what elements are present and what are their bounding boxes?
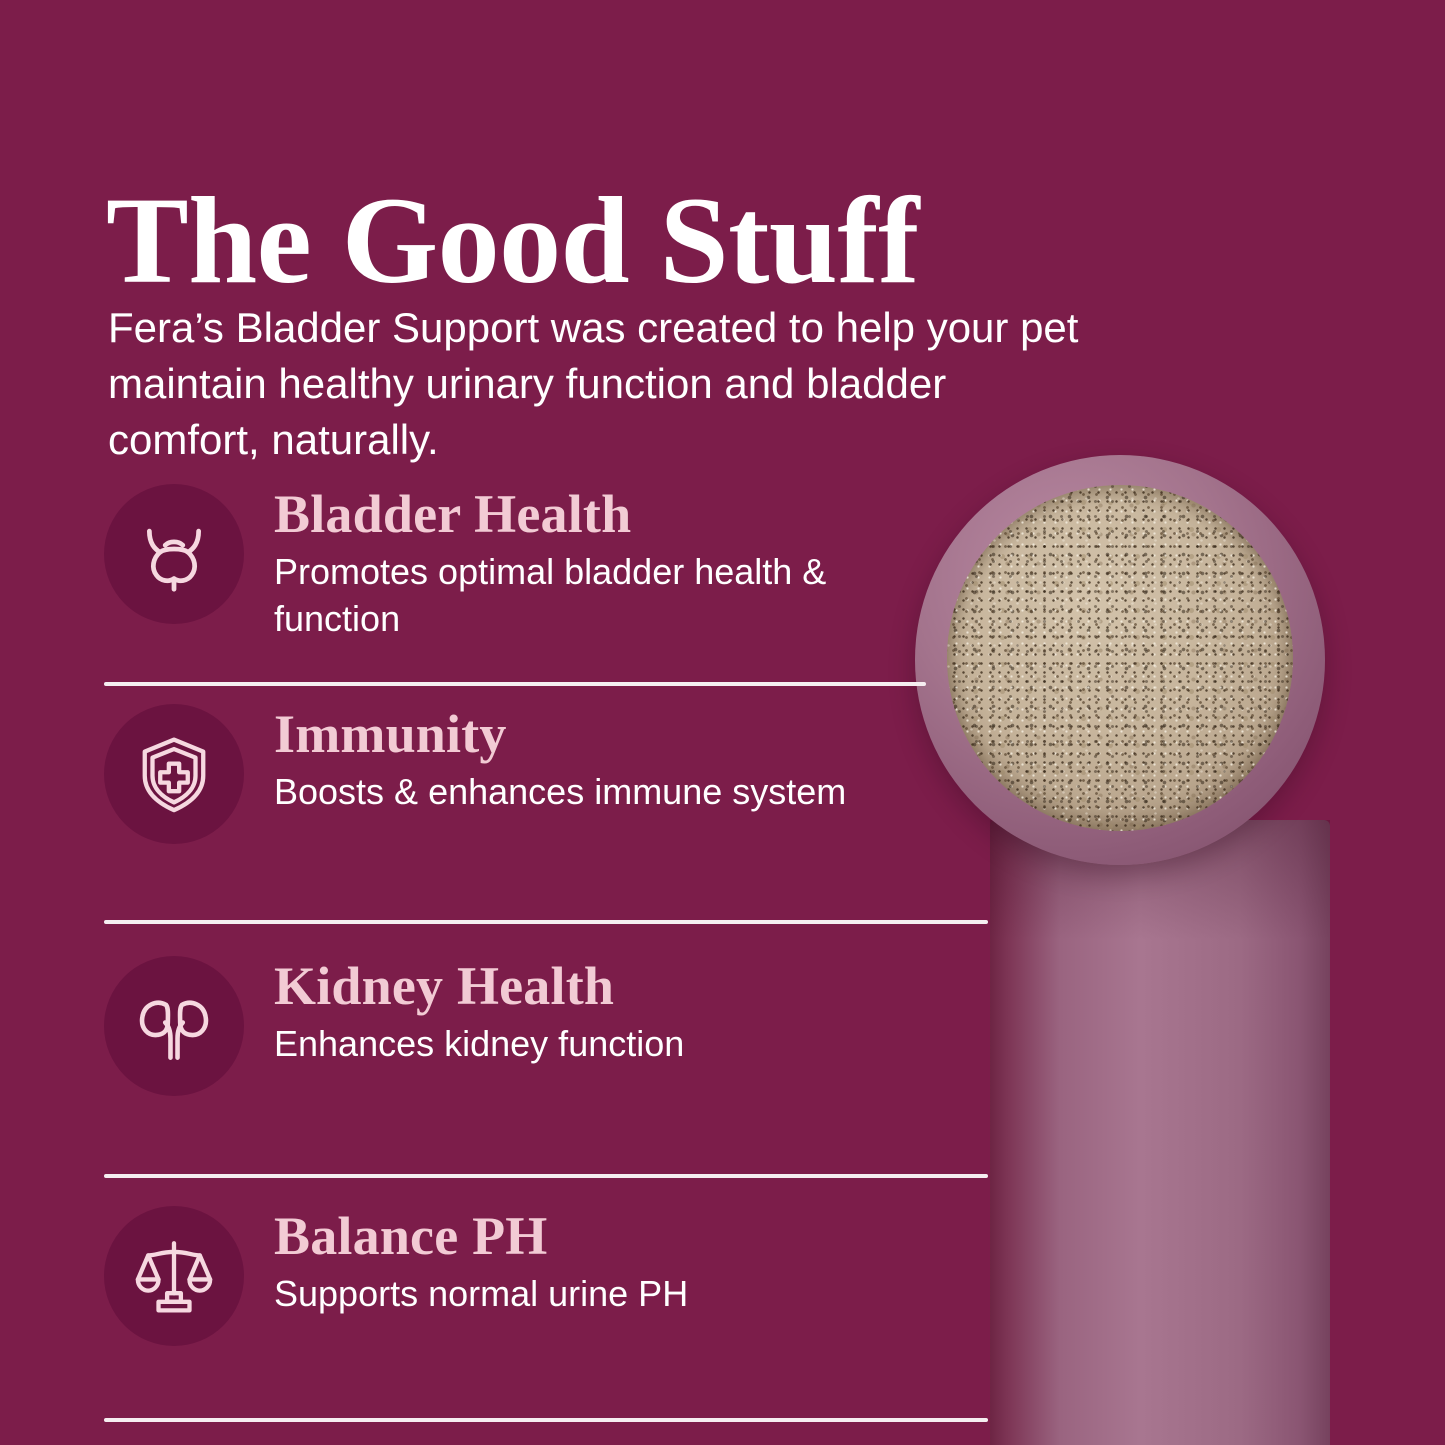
kidneys-icon bbox=[104, 956, 244, 1096]
bladder-icon bbox=[104, 484, 244, 624]
list-item: Balance PH Supports normal urine PH bbox=[104, 1178, 1339, 1418]
benefit-description: Enhances kidney function bbox=[274, 1021, 684, 1067]
list-item-text: Bladder Health Promotes optimal bladder … bbox=[274, 484, 914, 642]
shield-plus-icon bbox=[104, 704, 244, 844]
benefit-title: Immunity bbox=[274, 706, 846, 763]
benefit-title: Bladder Health bbox=[274, 486, 914, 543]
page-subtitle: Fera’s Bladder Support was created to he… bbox=[108, 300, 1098, 468]
benefit-title: Balance PH bbox=[274, 1208, 688, 1265]
page-title: The Good Stuff bbox=[106, 175, 1166, 306]
balance-scale-icon bbox=[104, 1206, 244, 1346]
divider bbox=[104, 1418, 988, 1422]
benefits-list: Bladder Health Promotes optimal bladder … bbox=[104, 468, 1339, 1422]
list-item-text: Balance PH Supports normal urine PH bbox=[274, 1206, 688, 1318]
good-stuff-infographic: The Good Stuff Fera’s Bladder Support wa… bbox=[0, 0, 1445, 1445]
benefit-description: Promotes optimal bladder health & functi… bbox=[274, 549, 914, 642]
benefit-description: Supports normal urine PH bbox=[274, 1271, 688, 1317]
benefit-title: Kidney Health bbox=[274, 958, 684, 1015]
list-item-text: Immunity Boosts & enhances immune system bbox=[274, 704, 846, 816]
benefit-description: Boosts & enhances immune system bbox=[274, 769, 846, 815]
list-item: Kidney Health Enhances kidney function bbox=[104, 924, 1339, 1174]
list-item: Immunity Boosts & enhances immune system bbox=[104, 686, 1339, 920]
list-item: Bladder Health Promotes optimal bladder … bbox=[104, 468, 1339, 682]
list-item-text: Kidney Health Enhances kidney function bbox=[274, 956, 684, 1068]
